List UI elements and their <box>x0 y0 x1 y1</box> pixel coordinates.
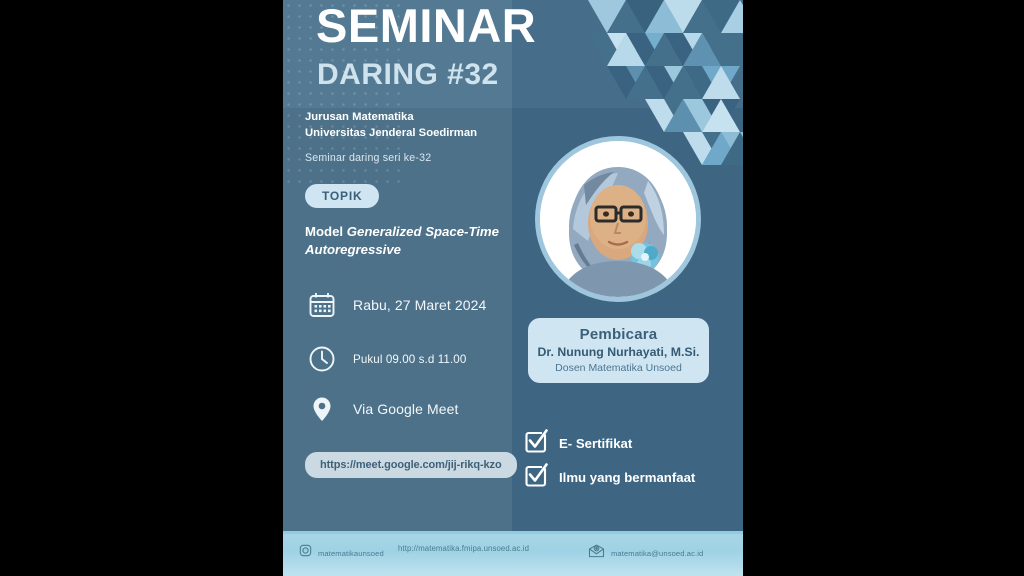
poster-title: SEMINAR <box>316 1 536 50</box>
topic-prefix: Model <box>305 224 343 239</box>
speaker-card: Pembicara Dr. Nunung Nurhayati, M.Si. Do… <box>528 318 709 383</box>
speaker-role: Pembicara <box>534 326 703 343</box>
screenshot-stage: SEMINAR DARING #32 Jurusan Matematika Un… <box>0 0 1024 576</box>
series-caption: Seminar daring seri ke-32 <box>305 152 431 164</box>
email-icon <box>588 544 605 563</box>
footer-website[interactable]: http://matematika.fmipa.unsoed.ac.id <box>398 544 529 553</box>
detail-date-text: Rabu, 27 Maret 2024 <box>353 297 486 313</box>
poster-subtitle: DARING #32 <box>317 58 499 92</box>
detail-row-date: Rabu, 27 Maret 2024 <box>305 288 486 322</box>
organizer-block: Jurusan Matematika Universitas Jenderal … <box>305 110 477 141</box>
footer-website-text: http://matematika.fmipa.unsoed.ac.id <box>398 544 529 553</box>
clock-icon <box>305 342 339 376</box>
speaker-name: Dr. Nunung Nurhayati, M.Si. <box>534 345 703 359</box>
avatar <box>535 136 701 302</box>
speaker-affiliation: Dosen Matematika Unsoed <box>534 362 703 374</box>
detail-place-text: Via Google Meet <box>353 401 459 417</box>
detail-row-time: Pukul 09.00 s.d 11.00 <box>305 342 466 376</box>
detail-time-text: Pukul 09.00 s.d 11.00 <box>353 353 466 366</box>
instagram-icon <box>299 544 312 562</box>
footer-instagram-text: matematikaunsoed <box>318 549 384 558</box>
footer-email[interactable]: matematika@unsoed.ac.id <box>588 544 703 563</box>
footer-divider <box>283 531 743 534</box>
detail-row-place: Via Google Meet <box>305 392 459 426</box>
footer-bar: matematikaunsoed http://matematika.fmipa… <box>283 531 743 576</box>
footer-instagram[interactable]: matematikaunsoed <box>299 544 384 562</box>
benefit-label: Ilmu yang bermanfaat <box>559 470 695 485</box>
benefit-item: E- Sertifikat <box>523 428 632 459</box>
benefit-label: E- Sertifikat <box>559 436 632 451</box>
checkbox-checked-icon <box>523 428 549 459</box>
footer-email-text: matematika@unsoed.ac.id <box>611 549 703 558</box>
organizer-department: Jurusan Matematika <box>305 110 477 126</box>
location-pin-icon <box>305 392 339 426</box>
calendar-icon <box>305 288 339 322</box>
speaker-portrait <box>540 141 696 297</box>
topik-badge: TOPIK <box>305 184 379 208</box>
organizer-university: Universitas Jenderal Soedirman <box>305 126 477 142</box>
checkbox-checked-icon <box>523 462 549 493</box>
seminar-poster: SEMINAR DARING #32 Jurusan Matematika Un… <box>283 0 743 576</box>
benefit-item: Ilmu yang bermanfaat <box>523 462 695 493</box>
topic-title: Model Generalized Space-Time Autoregress… <box>305 223 520 259</box>
google-meet-link[interactable]: https://meet.google.com/jij-rikq-kzo <box>305 452 517 478</box>
